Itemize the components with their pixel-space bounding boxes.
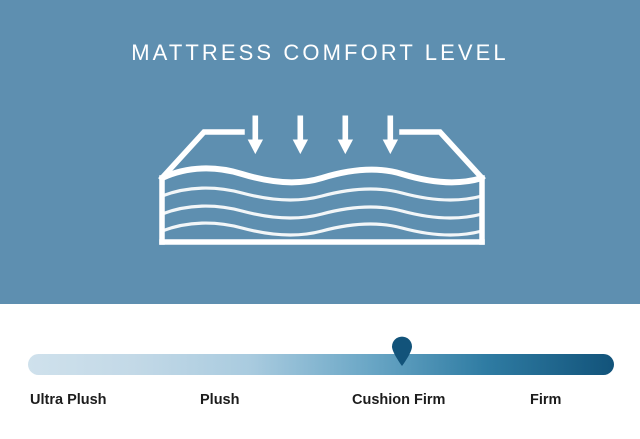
mattress-illustration xyxy=(150,104,494,250)
scale-label-firm[interactable]: Firm xyxy=(530,392,561,408)
scale-label-ultra-plush[interactable]: Ultra Plush xyxy=(30,392,107,408)
hero-panel: MATTRESS COMFORT LEVEL xyxy=(0,0,640,304)
map-pin-icon xyxy=(391,336,413,366)
pressure-arrow-down-icon xyxy=(384,116,398,153)
pressure-arrow-down-icon xyxy=(249,116,263,153)
pressure-arrows-group xyxy=(249,116,398,153)
comfort-scale-panel: Ultra Plush Plush Cushion Firm Firm xyxy=(0,304,640,439)
mattress-layer-waves xyxy=(162,188,482,235)
scale-label-cushion-firm[interactable]: Cushion Firm xyxy=(352,392,445,408)
comfort-scale-labels: Ultra Plush Plush Cushion Firm Firm xyxy=(0,392,640,416)
page-title: MATTRESS COMFORT LEVEL xyxy=(0,40,640,66)
pressure-arrow-down-icon xyxy=(339,116,353,153)
selected-comfort-marker[interactable] xyxy=(391,336,413,366)
comfort-level-gradient-bar[interactable] xyxy=(28,354,614,375)
scale-label-plush[interactable]: Plush xyxy=(200,392,239,408)
mattress-graphic-svg xyxy=(150,104,494,250)
mattress-surface-wave xyxy=(162,168,482,182)
pressure-arrow-down-icon xyxy=(294,116,308,153)
mattress-comfort-level-infographic: MATTRESS COMFORT LEVEL xyxy=(0,0,640,439)
